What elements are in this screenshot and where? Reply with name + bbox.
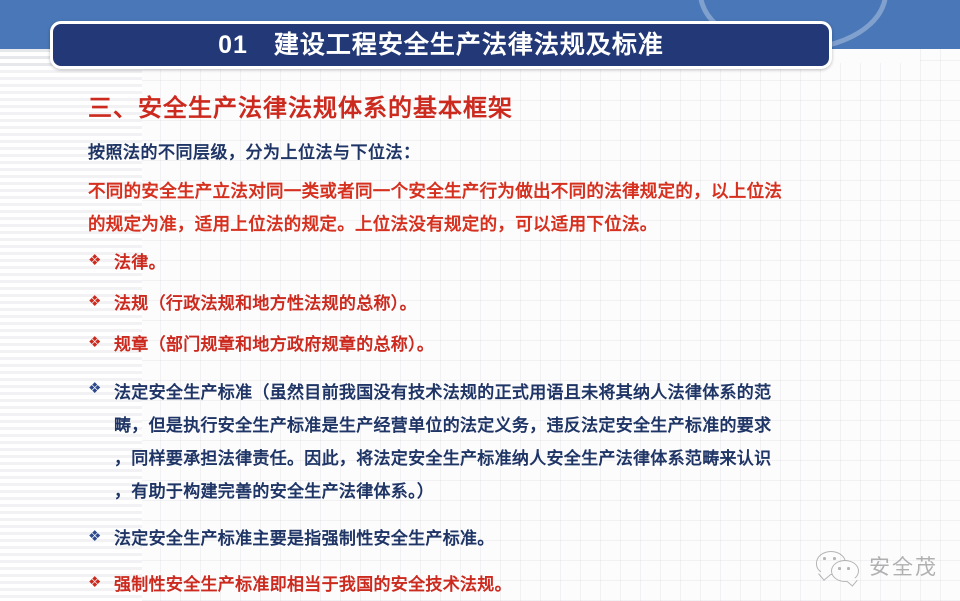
bullet-list: ❖ 法律。 ❖ 法规（行政法规和地方性法规的总称）。 ❖ 规章（部门规章和地方政… <box>88 248 898 601</box>
section-title: 三、安全生产法律法规体系的基本框架 <box>88 88 513 123</box>
watermark: 安全茂 <box>816 551 938 581</box>
list-item-text: 法规（行政法规和地方性法规的总称）。 <box>114 289 898 319</box>
red-paragraph-line-1: 不同的安全生产立法对同一类或者同一个安全生产行为做出不同的法律规定的，以上位法 <box>88 175 888 208</box>
diamond-bullet-icon: ❖ <box>88 524 114 550</box>
list-item: ❖ 法规（行政法规和地方性法规的总称）。 <box>88 289 898 319</box>
list-item-text: 强制性安全生产标准即相当于我国的安全技术法规。 <box>114 570 898 600</box>
slide-canvas: 01 建设工程安全生产法律法规及标准 三、安全生产法律法规体系的基本框架 按照法… <box>0 0 960 601</box>
diamond-bullet-icon: ❖ <box>88 570 114 596</box>
list-item-line: 法律。 <box>114 248 898 278</box>
diamond-bullet-icon: ❖ <box>88 289 114 315</box>
wechat-icon <box>816 551 860 581</box>
list-item: ❖ 强制性安全生产标准即相当于我国的安全技术法规。 <box>88 570 898 600</box>
list-item-text: 法定安全生产标准（虽然目前我国没有技术法规的正式用语且未将其纳人法律体系的范 畴… <box>114 376 898 508</box>
page-title: 01 建设工程安全生产法律法规及标准 <box>218 33 664 58</box>
slide-title-bar: 01 建设工程安全生产法律法规及标准 <box>50 21 832 69</box>
list-item-line: ，有助于构建完善的安全生产法律体系。） <box>114 475 898 508</box>
diamond-bullet-icon: ❖ <box>88 248 114 274</box>
list-item-line: 规章（部门规章和地方政府规章的总称）。 <box>114 330 898 360</box>
diamond-bullet-icon: ❖ <box>88 376 114 402</box>
list-item: ❖ 法律。 <box>88 248 898 278</box>
lead-text: 按照法的不同层级，分为上位法与下位法： <box>88 138 421 163</box>
list-item-line: 法定安全生产标准（虽然目前我国没有技术法规的正式用语且未将其纳人法律体系的范 <box>114 376 898 409</box>
list-item: ❖ 规章（部门规章和地方政府规章的总称）。 <box>88 330 898 360</box>
list-item-line: 法规（行政法规和地方性法规的总称）。 <box>114 289 898 319</box>
slide-content: 三、安全生产法律法规体系的基本框架 按照法的不同层级，分为上位法与下位法： 不同… <box>0 80 960 601</box>
list-item-line: 畴，但是执行安全生产标准是生产经营单位的法定义务，违反法定安全生产标准的要求 <box>114 409 898 442</box>
list-item: ❖ 法定安全生产标准主要是指强制性安全生产标准。 <box>88 524 898 554</box>
list-item-line: ，同样要承担法律责任。因此，将法定安全生产标准纳人安全生产法律体系范畴来认识 <box>114 442 898 475</box>
red-paragraph-line-2: 的规定为准，适用上位法的规定。上位法没有规定的，可以适用下位法。 <box>88 208 888 241</box>
list-item-line: 法定安全生产标准主要是指强制性安全生产标准。 <box>114 524 898 554</box>
watermark-text: 安全茂 <box>869 551 938 581</box>
list-item-line: 强制性安全生产标准即相当于我国的安全技术法规。 <box>114 570 898 600</box>
list-item-text: 法定安全生产标准主要是指强制性安全生产标准。 <box>114 524 898 554</box>
red-paragraph: 不同的安全生产立法对同一类或者同一个安全生产行为做出不同的法律规定的，以上位法 … <box>88 175 888 241</box>
diamond-bullet-icon: ❖ <box>88 330 114 356</box>
list-item: ❖ 法定安全生产标准（虽然目前我国没有技术法规的正式用语且未将其纳人法律体系的范… <box>88 376 898 508</box>
list-item-text: 规章（部门规章和地方政府规章的总称）。 <box>114 330 898 360</box>
list-item-text: 法律。 <box>114 248 898 278</box>
